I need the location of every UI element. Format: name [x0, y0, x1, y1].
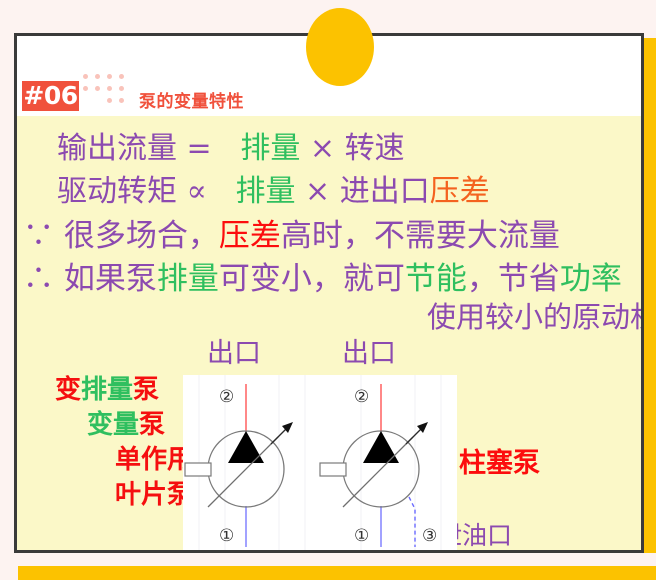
therefore-highlight-3: 功率 — [560, 261, 622, 297]
side-label-variable-pump: 变量泵 — [87, 404, 165, 441]
because-highlight: 压差 — [219, 218, 281, 254]
therefore-symbol: ∴ — [23, 261, 54, 297]
side-label-2-part-c: 泵 — [139, 410, 165, 440]
eq2-lhs: 驱动转矩 — [57, 174, 177, 209]
side-label-2-part-b: 变量 — [87, 410, 139, 440]
therefore-text-c: 可变小，就可 — [219, 261, 405, 297]
motor-note: 使用较小的原动机 — [427, 294, 644, 336]
outlet-label-right: 出口 — [342, 331, 396, 370]
therefore-highlight-1: 排量 — [157, 261, 219, 297]
hero-circle-decoration — [306, 8, 374, 86]
because-symbol: ∵ — [23, 218, 54, 254]
equation-line-2: 驱动转矩 ∝ 排量 × 进出口压差 — [57, 166, 490, 210]
port-number-outlet-right: ② — [354, 387, 369, 407]
eq2-multiply: × — [305, 174, 330, 209]
slide-number-badge: #06 — [22, 81, 79, 111]
side-label-1-part-c: 泵 — [133, 375, 159, 405]
because-line: ∵ 很多场合，压差高时，不需要大流量 — [23, 210, 560, 255]
because-text-c: 高时，不需要大流量 — [281, 218, 560, 254]
pump-symbol-right: ② ① ③ — [320, 384, 437, 547]
dot-grid-decoration — [83, 74, 129, 112]
side-label-1-part-b: 排量 — [81, 375, 133, 405]
eq2-term-1: 排量 — [236, 174, 296, 209]
equation-line-1: 输出流量 = 排量 × 转速 — [57, 123, 405, 167]
page-title: 泵的变量特性 — [139, 87, 244, 112]
eq1-multiply: × — [310, 131, 335, 166]
port-number-inlet-right: ① — [354, 526, 369, 546]
side-label-variable-displacement-pump: 变排量泵 — [55, 369, 159, 406]
side-label-single-acting: 单作用 — [115, 439, 193, 476]
eq2-term-3: 压差 — [430, 174, 490, 209]
port-number-drain: ③ — [422, 526, 437, 546]
slide-body: 输出流量 = 排量 × 转速 驱动转矩 ∝ 排量 × 进出口压差 ∵ 很多场合，… — [17, 116, 641, 553]
therefore-line: ∴ 如果泵排量可变小，就可节能，节省功率 — [23, 253, 622, 298]
pump-symbol-diagram: ② ① ② ① ③ — [183, 375, 457, 552]
pump-symbol-left: ② ① — [185, 384, 293, 547]
port-number-outlet-left: ② — [219, 387, 234, 407]
eq1-lhs: 输出流量 — [57, 131, 177, 166]
slide-card: #06 泵的变量特性 输出流量 = 排量 × 转速 驱动转矩 ∝ 排量 × 进出… — [14, 33, 644, 553]
therefore-text-a: 如果泵 — [64, 261, 157, 297]
outlet-label-left: 出口 — [207, 331, 261, 370]
side-label-piston-pump: 柱塞泵 — [459, 441, 540, 480]
because-text-a: 很多场合， — [64, 218, 219, 254]
side-label-vane-pump: 叶片泵 — [115, 474, 193, 511]
eq2-term-2: 进出口 — [340, 174, 430, 209]
bottom-accent-bar — [18, 566, 656, 580]
eq2-operator: ∝ — [187, 174, 207, 209]
therefore-text-e: ，节省 — [467, 261, 560, 297]
eq1-term-1: 排量 — [240, 131, 300, 166]
port-number-inlet-left: ① — [219, 526, 234, 546]
right-accent-strip — [643, 38, 656, 553]
eq1-operator: = — [187, 131, 212, 166]
eq1-term-2: 转速 — [345, 131, 405, 166]
therefore-highlight-2: 节能 — [405, 261, 467, 297]
side-label-1-part-a: 变 — [55, 375, 81, 405]
